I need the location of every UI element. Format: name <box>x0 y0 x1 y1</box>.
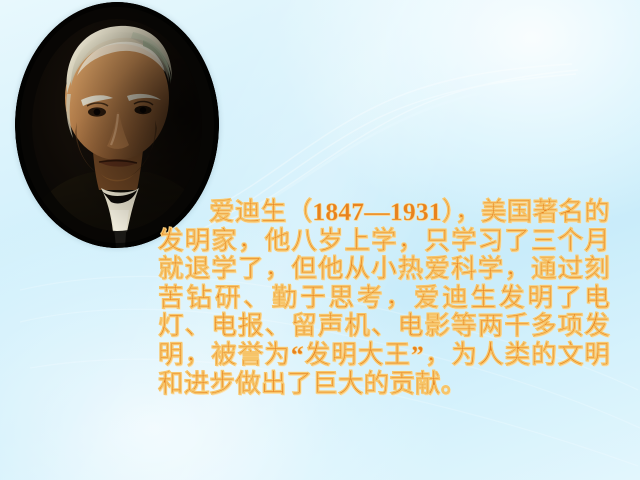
slide-canvas: 爱迪生（1847—1931），美国著名的发明家，他八岁上学，只学习了三个月就退学… <box>0 0 640 480</box>
edison-description-paragraph: 爱迪生（1847—1931），美国著名的发明家，他八岁上学，只学习了三个月就退学… <box>158 198 610 398</box>
